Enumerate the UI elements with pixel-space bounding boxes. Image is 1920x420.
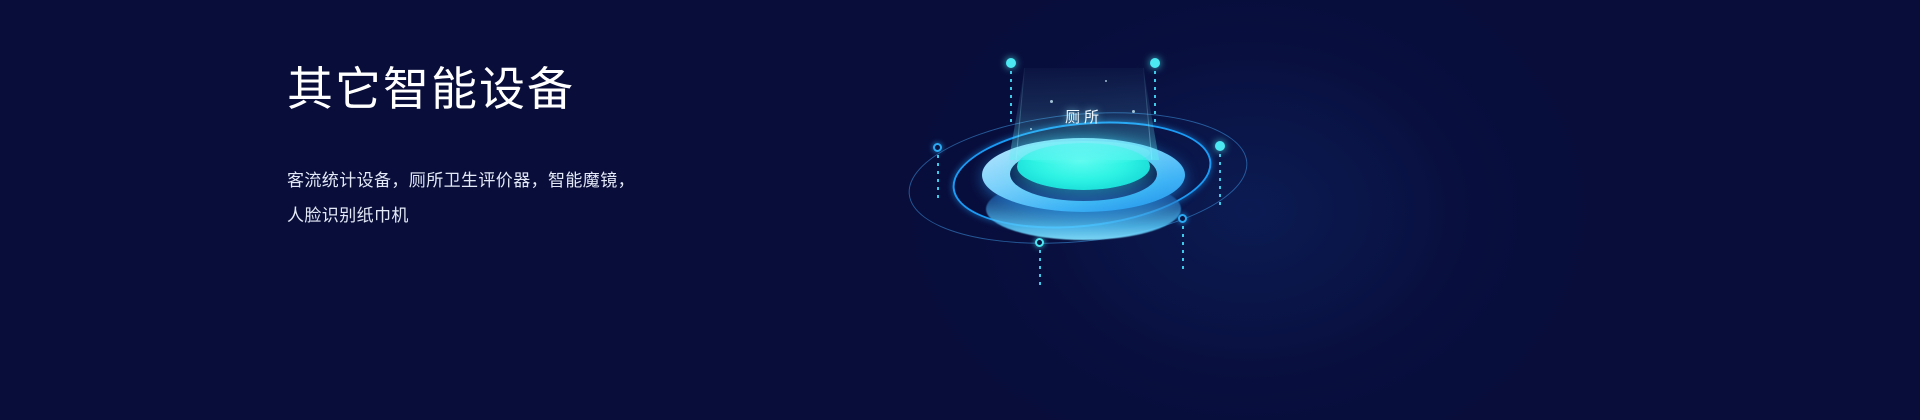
promo-banner: 其它智能设备 客流统计设备，厕所卫生评价器，智能魔镜， 人脸识别纸巾机 厕所 (0, 0, 1920, 420)
marker-dot-icon (1006, 58, 1016, 68)
marker-drop-line (1182, 226, 1184, 270)
marker-drop-line (1039, 250, 1041, 290)
subtitle-line-2: 人脸识别纸巾机 (287, 199, 687, 234)
text-block: 其它智能设备 客流统计设备，厕所卫生评价器，智能魔镜， 人脸识别纸巾机 (287, 62, 847, 234)
sparkle-icon (1105, 80, 1107, 82)
sparkle-icon (1030, 128, 1032, 130)
marker-dot-icon (1215, 141, 1225, 151)
marker-dot-icon (1035, 238, 1044, 247)
sparkle-icon (1132, 110, 1135, 113)
hologram-label: 厕所 (1004, 106, 1164, 127)
marker-dot-icon (933, 143, 942, 152)
page-subtitle: 客流统计设备，厕所卫生评价器，智能魔镜， 人脸识别纸巾机 (287, 164, 687, 234)
illustration: 厕所 (900, 10, 1300, 300)
marker-drop-line (1154, 71, 1156, 123)
marker-drop-line (937, 155, 939, 203)
sparkle-icon (1050, 100, 1053, 103)
marker-drop-line (1219, 154, 1221, 206)
subtitle-line-1: 客流统计设备，厕所卫生评价器，智能魔镜， (287, 164, 687, 199)
marker-dot-icon (1150, 58, 1160, 68)
marker-drop-line (1010, 71, 1012, 123)
page-title: 其它智能设备 (287, 62, 847, 116)
marker-dot-icon (1178, 214, 1187, 223)
